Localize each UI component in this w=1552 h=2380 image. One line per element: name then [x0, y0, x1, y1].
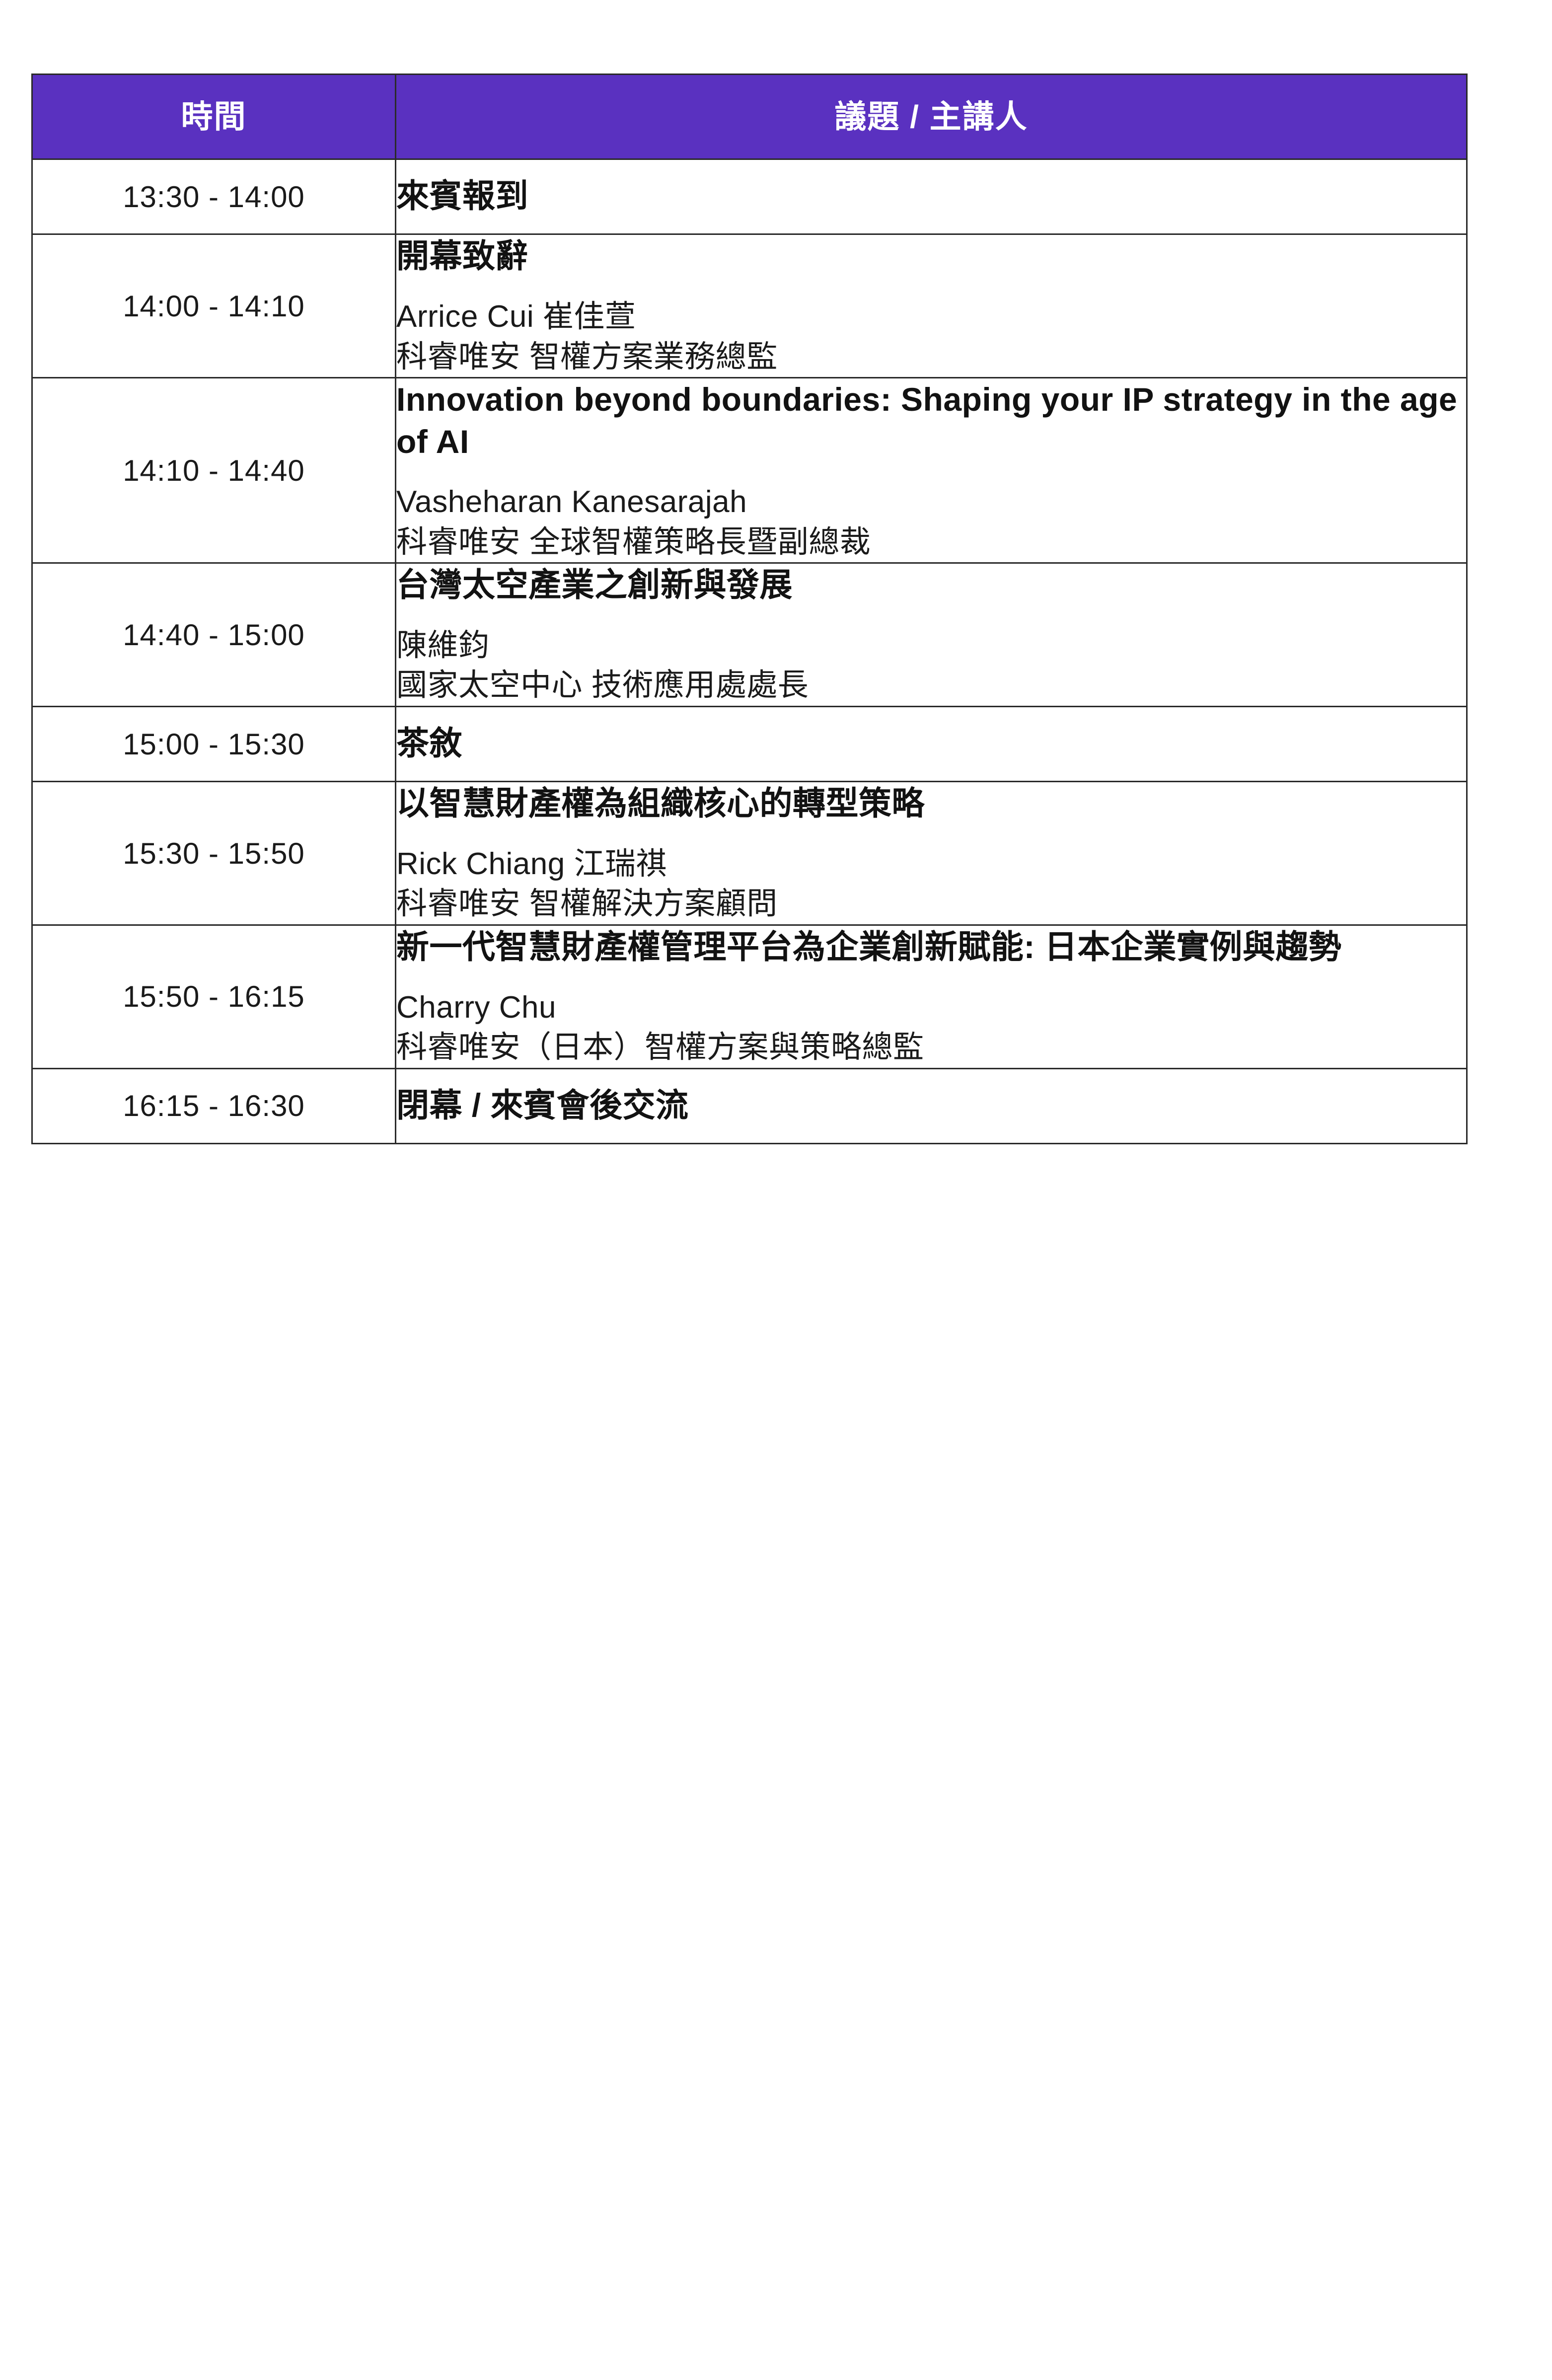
row-topic: 茶敘 [396, 706, 1467, 781]
agenda-page: 時間 議題 / 主講人 13:30 - 14:00 來賓報到 14:00 - 1… [0, 0, 1552, 2380]
table-row: 15:00 - 15:30 茶敘 [32, 706, 1467, 781]
table-row: 15:50 - 16:15 新一代智慧財產權管理平台為企業創新賦能: 日本企業實… [32, 925, 1467, 1069]
session-title: 以智慧財產權為組織核心的轉型策略 [396, 782, 1466, 824]
speaker-title: 科睿唯安 智權解決方案顧問 [396, 884, 1466, 924]
session-title: 閉幕 / 來賓會後交流 [396, 1084, 1466, 1126]
row-time: 16:15 - 16:30 [32, 1068, 396, 1143]
column-header-topic: 議題 / 主講人 [396, 74, 1467, 159]
speaker-block: Vasheharan Kanesarajah 科睿唯安 全球智權策略長暨副總裁 [396, 482, 1466, 562]
table-row: 14:40 - 15:00 台灣太空產業之創新與發展 陳維鈞 國家太空中心 技術… [32, 563, 1467, 707]
row-topic: 以智慧財產權為組織核心的轉型策略 Rick Chiang 江瑞祺 科睿唯安 智權… [396, 782, 1467, 925]
table-header-row: 時間 議題 / 主講人 [32, 74, 1467, 159]
table-header: 時間 議題 / 主講人 [32, 74, 1467, 159]
row-topic: 開幕致辭 Arrice Cui 崔佳萱 科睿唯安 智權方案業務總監 [396, 234, 1467, 378]
speaker-block: Arrice Cui 崔佳萱 科睿唯安 智權方案業務總監 [396, 297, 1466, 377]
agenda-table: 時間 議題 / 主講人 13:30 - 14:00 來賓報到 14:00 - 1… [31, 74, 1468, 1144]
session-title: 開幕致辭 [396, 235, 1466, 277]
row-time: 14:00 - 14:10 [32, 234, 396, 378]
table-row: 14:10 - 14:40 Innovation beyond boundari… [32, 378, 1467, 563]
speaker-name: Charry Chu [396, 988, 1466, 1028]
speaker-block: Rick Chiang 江瑞祺 科睿唯安 智權解決方案顧問 [396, 844, 1466, 924]
column-header-time: 時間 [32, 74, 396, 159]
speaker-title: 科睿唯安 智權方案業務總監 [396, 337, 1466, 377]
speaker-block: Charry Chu 科睿唯安（日本）智權方案與策略總監 [396, 988, 1466, 1068]
row-topic: 來賓報到 [396, 159, 1467, 234]
table-row: 16:15 - 16:30 閉幕 / 來賓會後交流 [32, 1068, 1467, 1143]
row-topic: 閉幕 / 來賓會後交流 [396, 1068, 1467, 1143]
speaker-name: 陳維鈞 [396, 626, 1466, 666]
table-row: 15:30 - 15:50 以智慧財產權為組織核心的轉型策略 Rick Chia… [32, 782, 1467, 925]
row-topic: 新一代智慧財產權管理平台為企業創新賦能: 日本企業實例與趨勢 Charry Ch… [396, 925, 1467, 1069]
session-title: 台灣太空產業之創新與發展 [396, 564, 1466, 605]
row-time: 15:30 - 15:50 [32, 782, 396, 925]
speaker-name: Rick Chiang 江瑞祺 [396, 844, 1466, 885]
session-title: 茶敘 [396, 722, 1466, 764]
row-time: 14:10 - 14:40 [32, 378, 396, 563]
row-topic: 台灣太空產業之創新與發展 陳維鈞 國家太空中心 技術應用處處長 [396, 563, 1467, 707]
row-time: 13:30 - 14:00 [32, 159, 396, 234]
row-time: 15:50 - 16:15 [32, 925, 396, 1069]
row-time: 14:40 - 15:00 [32, 563, 396, 707]
session-title: 來賓報到 [396, 175, 1466, 217]
row-time: 15:00 - 15:30 [32, 706, 396, 781]
speaker-name: Vasheharan Kanesarajah [396, 482, 1466, 522]
speaker-name: Arrice Cui 崔佳萱 [396, 297, 1466, 337]
session-title: Innovation beyond boundaries: Shaping yo… [396, 378, 1466, 462]
speaker-title: 科睿唯安 全球智權策略長暨副總裁 [396, 522, 1466, 563]
speaker-block: 陳維鈞 國家太空中心 技術應用處處長 [396, 626, 1466, 706]
speaker-title: 科睿唯安（日本）智權方案與策略總監 [396, 1028, 1466, 1068]
speaker-title: 國家太空中心 技術應用處處長 [396, 666, 1466, 706]
table-body: 13:30 - 14:00 來賓報到 14:00 - 14:10 開幕致辭 Ar… [32, 159, 1467, 1144]
session-title: 新一代智慧財產權管理平台為企業創新賦能: 日本企業實例與趨勢 [396, 926, 1466, 967]
table-row: 14:00 - 14:10 開幕致辭 Arrice Cui 崔佳萱 科睿唯安 智… [32, 234, 1467, 378]
row-topic: Innovation beyond boundaries: Shaping yo… [396, 378, 1467, 563]
table-row: 13:30 - 14:00 來賓報到 [32, 159, 1467, 234]
